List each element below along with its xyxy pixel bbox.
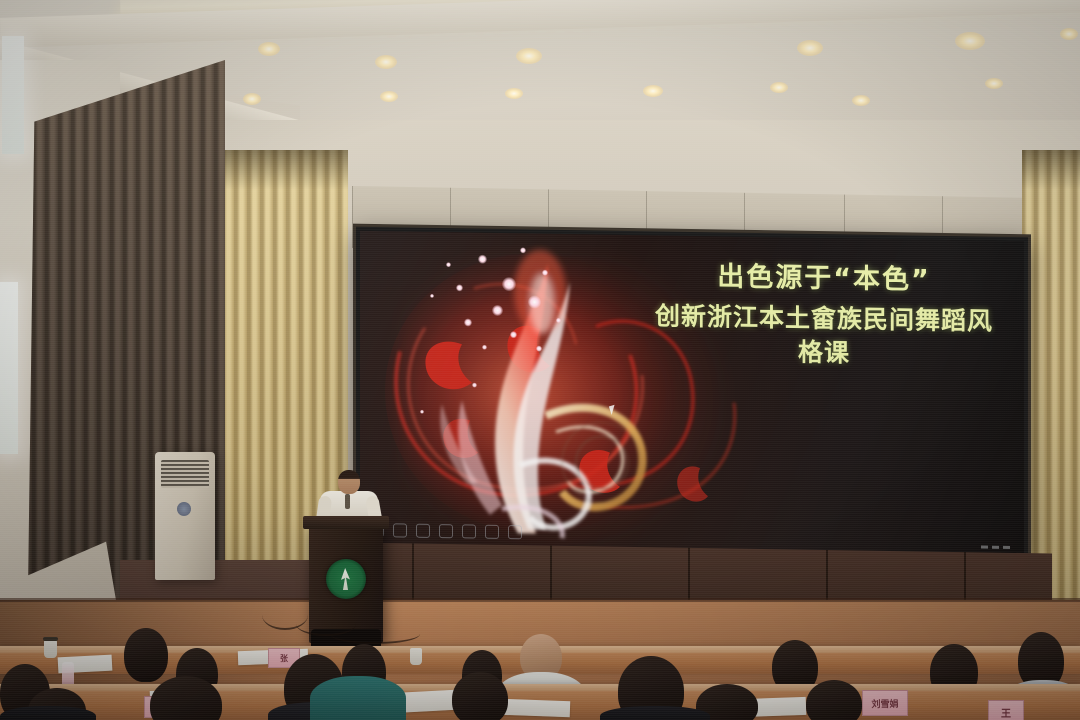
podium-top: [303, 516, 389, 529]
window-slit-lower: [0, 282, 18, 454]
air-conditioner-unit: [155, 452, 215, 580]
paper-cup: [410, 648, 422, 665]
downlight: [516, 48, 542, 64]
slide-canvas: 出色源于“本色” 创新浙江本土畲族民间舞蹈风格课: [360, 231, 1024, 555]
audience-shoulders: [310, 676, 406, 720]
downlight: [375, 55, 397, 69]
audience-head: [806, 680, 862, 720]
presenter-tie: [345, 494, 350, 509]
led-display: 出色源于“本色” 创新浙江本土畲族民间舞蹈风格课: [356, 227, 1028, 560]
lecture-hall-photo: 出色源于“本色” 创新浙江本土畲族民间舞蹈风格课: [0, 0, 1080, 720]
downlight: [797, 40, 823, 56]
downlight: [955, 32, 985, 50]
downlight: [852, 95, 870, 106]
downlight: [258, 42, 280, 56]
downlight: [505, 88, 523, 99]
downlight: [380, 91, 398, 102]
paper-cup: [44, 640, 57, 658]
ac-badge-icon: [177, 502, 191, 516]
curtain-shadow: [1022, 150, 1080, 190]
screen-glare: [360, 231, 1024, 555]
downlight: [985, 78, 1003, 89]
audience-head: [452, 672, 508, 720]
downlight: [1060, 28, 1078, 40]
downlight: [243, 93, 261, 105]
downlight: [770, 82, 788, 93]
audience-shoulders: [0, 706, 96, 720]
floor-cable: [262, 600, 308, 630]
table-name-card: 刘雪娟: [862, 690, 908, 716]
presenter-head: [338, 470, 360, 494]
ac-grille: [161, 460, 209, 488]
downlight: [643, 85, 663, 97]
university-emblem-icon: [326, 559, 366, 599]
table-name-card: 王: [988, 700, 1024, 720]
audience-head: [124, 628, 168, 682]
audience-shoulders: [600, 706, 710, 720]
handout-paper: [500, 699, 571, 717]
floor-cable: [330, 624, 420, 644]
window-slit-upper: [2, 36, 24, 154]
